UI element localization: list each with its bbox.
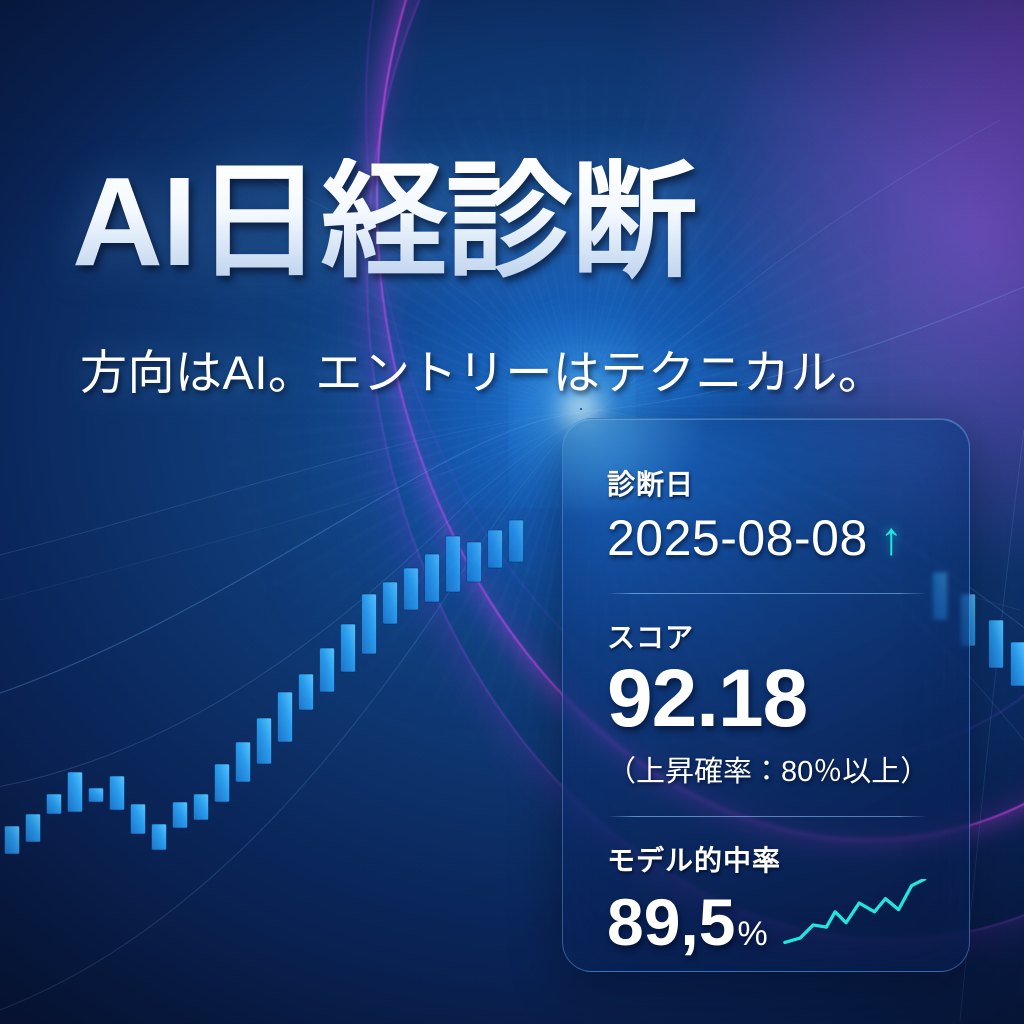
page-title: AI日経診断 — [72, 158, 696, 287]
score-note: （上昇確率：80％以上） — [607, 748, 931, 790]
field-score: スコア 92.18 （上昇確率：80％以上） — [607, 616, 931, 790]
poster-canvas: AI日経診断 方向はAI。エントリーはテクニカル。 診断日 2025-08-08… — [0, 0, 1024, 1024]
page-subtitle: 方向はAI。エントリーはテクニカル。 — [80, 334, 885, 403]
accuracy-sparkline — [783, 879, 931, 949]
model-accuracy-row: 89,5 % — [607, 879, 931, 955]
score-label: スコア — [607, 616, 931, 656]
divider-2 — [609, 816, 925, 817]
divider-1 — [609, 593, 925, 594]
model-accuracy-value: 89,5 % — [607, 889, 768, 955]
score-value: 92.18 — [607, 658, 931, 740]
trend-up-arrow-icon: ↑ — [880, 515, 904, 561]
percent-sign: % — [737, 917, 767, 951]
diagnosis-summary-card: 診断日 2025-08-08 ↑ スコア 92.18 （上昇確率：80％以上） … — [562, 418, 970, 972]
diagnosis-date-value-row: 2025-08-08 ↑ — [607, 509, 931, 567]
field-model-accuracy: モデル的中率 89,5 % — [607, 839, 931, 955]
field-diagnosis-date: 診断日 2025-08-08 ↑ — [607, 463, 931, 567]
diagnosis-date-value: 2025-08-08 — [607, 509, 868, 567]
model-accuracy-label: モデル的中率 — [607, 839, 931, 879]
model-accuracy-number: 89,5 — [607, 889, 735, 955]
diagnosis-date-label: 診断日 — [607, 463, 931, 503]
